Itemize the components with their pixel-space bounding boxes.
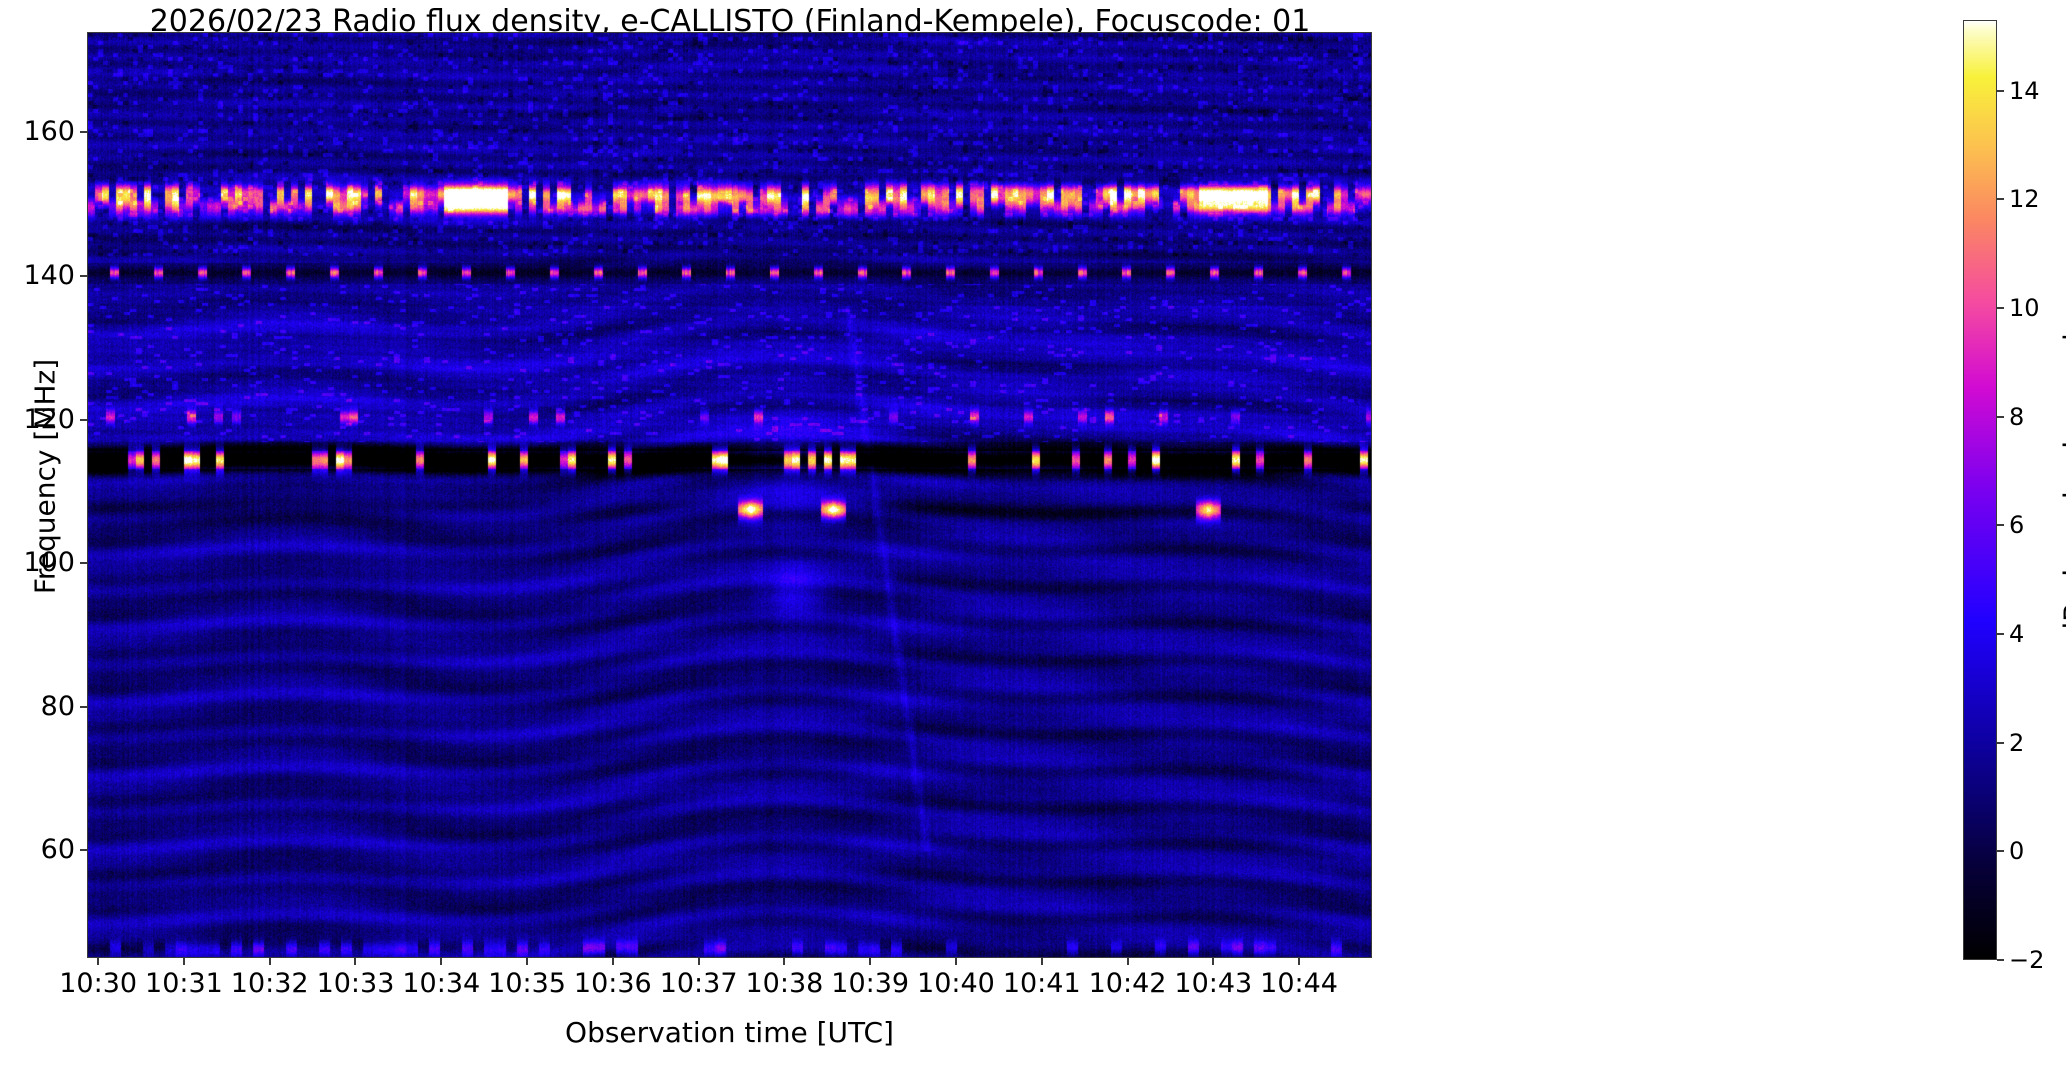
colorbar-tick-label: 6	[2009, 509, 2024, 541]
colorbar-label: dB above background	[2058, 177, 2066, 797]
x-tick-mark	[354, 958, 356, 965]
colorbar-tick-mark	[1997, 742, 2004, 744]
spectrogram-plot-area	[87, 32, 1372, 958]
colorbar-ticks: −202468101214	[1997, 20, 2066, 960]
colorbar-tick-mark	[1997, 416, 2004, 418]
colorbar-tick-label: 4	[2009, 618, 2024, 650]
colorbar-tick-label: 0	[2009, 835, 2024, 867]
colorbar-tick-label: 8	[2009, 401, 2024, 433]
x-tick-mark	[612, 958, 614, 965]
colorbar-tick-mark	[1997, 633, 2004, 635]
x-tick-mark	[269, 958, 271, 965]
x-tick-mark	[97, 958, 99, 965]
x-tick-mark	[1041, 958, 1043, 965]
y-tick-mark	[80, 419, 87, 421]
colorbar-tick-label: 12	[2009, 183, 2040, 215]
x-tick-mark	[1127, 958, 1129, 965]
colorbar-tick-mark	[1997, 307, 2004, 309]
colorbar-tick-mark	[1997, 524, 2004, 526]
colorbar-tick-label: 10	[2009, 292, 2040, 324]
colorbar: −202468101214	[1963, 20, 1997, 960]
colorbar-tick-mark	[1997, 198, 2004, 200]
y-tick-mark	[80, 562, 87, 564]
x-tick-label: 10:44	[1229, 968, 1369, 1000]
colorbar-tick-mark	[1997, 850, 2004, 852]
x-tick-mark	[526, 958, 528, 965]
spectrogram-image	[88, 33, 1372, 958]
colorbar-tick-label: 2	[2009, 727, 2024, 759]
y-tick-mark	[80, 706, 87, 708]
colorbar-tick-mark	[1997, 90, 2004, 92]
x-axis: 10:3010:3110:3210:3310:3410:3510:3610:37…	[87, 958, 1372, 1008]
colorbar-tick-label: 14	[2009, 75, 2040, 107]
y-tick-mark	[80, 131, 87, 133]
x-tick-mark	[183, 958, 185, 965]
y-tick-mark	[80, 849, 87, 851]
x-tick-mark	[698, 958, 700, 965]
x-tick-mark	[440, 958, 442, 965]
x-tick-mark	[1212, 958, 1214, 965]
y-axis-label: Frequency [MHz]	[29, 14, 62, 940]
x-tick-mark	[955, 958, 957, 965]
x-tick-mark	[1298, 958, 1300, 965]
x-axis-label: Observation time [UTC]	[87, 1016, 1372, 1049]
colorbar-gradient	[1963, 20, 1997, 960]
x-tick-mark	[869, 958, 871, 965]
y-tick-mark	[80, 275, 87, 277]
colorbar-tick-mark	[1997, 959, 2004, 961]
colorbar-tick-label: −2	[2009, 944, 2044, 976]
x-tick-mark	[783, 958, 785, 965]
